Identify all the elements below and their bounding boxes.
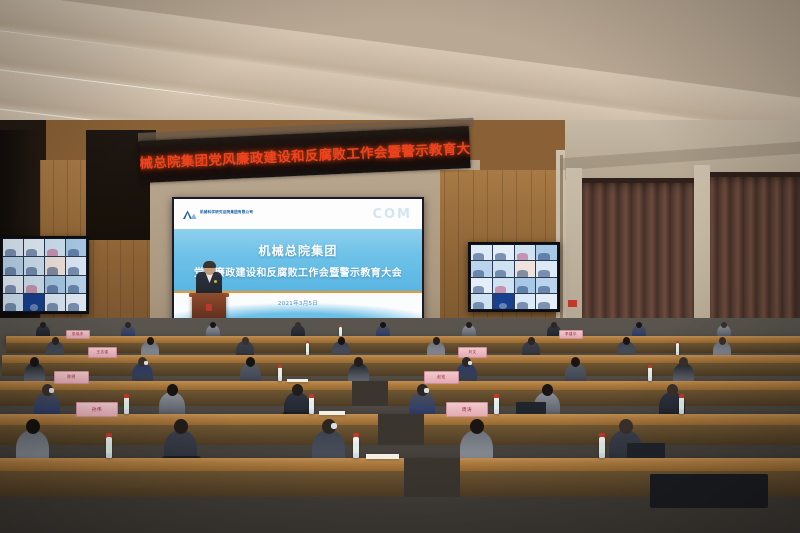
video-tile [515, 278, 536, 293]
video-tile [471, 278, 492, 293]
name-placard: 刘文 [458, 347, 487, 358]
attendee-head [147, 337, 154, 345]
video-wall-left [0, 236, 89, 314]
attendee-head [354, 357, 363, 367]
attendee-head [40, 322, 46, 328]
video-tile [3, 257, 23, 274]
bottle-label [599, 445, 605, 453]
attendee-head [338, 337, 345, 345]
attendee-head [292, 384, 303, 396]
bottle-label [353, 445, 359, 453]
video-tile [471, 245, 492, 260]
bottle-label [339, 330, 342, 333]
curtain-left [580, 178, 698, 333]
video-tile [536, 294, 557, 309]
bottle-label [278, 372, 282, 377]
video-tile [24, 276, 44, 293]
briefcase [650, 474, 768, 508]
bottle-label [648, 372, 652, 377]
video-wall-right [468, 242, 560, 312]
attendee-head [679, 357, 688, 367]
slide-watermark: COM [372, 207, 412, 222]
bottle-cap [309, 394, 314, 398]
attendee-head [30, 357, 39, 367]
video-tile [66, 294, 86, 311]
video-tile [66, 276, 86, 293]
attendee-head [52, 337, 59, 345]
face-mask [468, 361, 472, 365]
attendee-head [433, 337, 440, 345]
bottle-label [124, 403, 129, 409]
attendee [312, 430, 345, 460]
slide-title: 机械总院集团 [258, 242, 337, 259]
speaker-hair [203, 261, 216, 268]
video-tile [45, 257, 65, 274]
bottle-label [676, 348, 679, 352]
video-tile [45, 239, 65, 256]
slide-date: 2021年3月5日 [278, 299, 318, 307]
bottle-cap [599, 433, 605, 437]
attendee-head [167, 384, 178, 396]
name-placard: 赵宏 [424, 371, 459, 384]
conference-hall-photo: 机械总院集团党风廉政建设和反腐败工作会暨警示教育大会 机械科学研究总院集团有限公… [0, 0, 800, 533]
video-tile [493, 278, 514, 293]
video-tile [24, 257, 44, 274]
wall-seam [560, 155, 563, 345]
video-tile [3, 276, 23, 293]
video-tile-host [493, 294, 514, 309]
attendee-head [636, 322, 642, 328]
document-paper [287, 379, 308, 382]
bottle-cap [679, 394, 684, 398]
attendee-head [242, 337, 249, 345]
name-placard: 李建华 [559, 330, 583, 339]
video-tile [471, 294, 492, 309]
company-logo-icon [182, 209, 197, 220]
curtain-right [705, 172, 800, 342]
name-placard: 王志强 [88, 347, 117, 358]
document-paper [366, 454, 399, 459]
attendee-head [380, 322, 386, 328]
desk-front-panel [6, 343, 800, 353]
banner-text: 机械总院集团党风廉政建设和反腐败工作会暨警示教育大会 [139, 136, 471, 172]
video-tile [3, 294, 23, 311]
aisle-gap [352, 381, 388, 406]
video-tile [493, 245, 514, 260]
bottle-cap [339, 325, 342, 327]
attendee-head [210, 322, 216, 328]
video-tile [471, 261, 492, 276]
desk-surface [0, 381, 800, 390]
attendee-head [125, 322, 131, 328]
attendee-head [667, 384, 678, 396]
attendee-head [623, 337, 630, 345]
attendee-head [26, 419, 40, 434]
bottle-label [679, 403, 684, 409]
aisle-gap [378, 414, 424, 445]
desk-surface [6, 336, 800, 343]
attendee-head [528, 337, 535, 345]
video-tile [24, 239, 44, 256]
laptop [516, 402, 546, 414]
name-placard: 孙伟 [76, 402, 118, 417]
bottle-cap [353, 433, 359, 437]
bottle-cap [648, 365, 652, 368]
attendee-head [295, 322, 301, 328]
name-placard: 周涛 [446, 402, 488, 417]
video-tile [493, 261, 514, 276]
video-tile [515, 245, 536, 260]
speaker-badge [214, 280, 217, 283]
video-grid-right [471, 245, 557, 309]
bottle-cap [676, 341, 679, 343]
exit-sign [568, 300, 577, 307]
document-paper [319, 411, 345, 415]
video-tile [536, 261, 557, 276]
video-tile [536, 278, 557, 293]
face-mask [49, 388, 54, 393]
name-placard: 陈明 [54, 371, 89, 384]
attendee-head [542, 384, 553, 396]
name-placard: 张晓东 [66, 330, 90, 339]
bottle-cap [124, 394, 129, 398]
video-tile [66, 239, 86, 256]
video-tile [45, 294, 65, 311]
video-tile [45, 276, 65, 293]
attendee [460, 430, 493, 460]
bottle-label [106, 445, 112, 453]
face-mask [424, 388, 429, 393]
attendee-head [470, 419, 484, 434]
podium-emblem-icon [206, 304, 212, 311]
aisle-gap [404, 458, 460, 497]
bottle-label [306, 348, 309, 352]
attendee-head [619, 419, 633, 434]
desk-surface [0, 458, 800, 471]
video-grid-left [3, 239, 86, 311]
video-tile [515, 294, 536, 309]
bottle-label [494, 403, 499, 409]
company-logo-text: 机械科学研究总院集团有限公司 [200, 210, 253, 215]
bottle-label [309, 403, 314, 409]
slide-subtitle: 党风廉政建设和反腐败工作会暨警示教育大会 [194, 264, 402, 279]
video-tile [3, 239, 23, 256]
video-tile [536, 245, 557, 260]
laptop [627, 443, 665, 458]
attendee-head [466, 322, 472, 328]
bottle-cap [494, 394, 499, 398]
attendee-head [719, 337, 726, 345]
video-tile-host [24, 294, 44, 311]
face-mask [144, 361, 148, 365]
video-tile [515, 261, 536, 276]
attendee-head [246, 357, 255, 367]
attendee [16, 430, 49, 460]
attendee-head [571, 357, 580, 367]
bottle-cap [306, 341, 309, 343]
attendee-head [551, 322, 557, 328]
face-mask [331, 423, 337, 429]
attendee-head [721, 322, 727, 328]
video-tile [66, 257, 86, 274]
attendee-head [174, 419, 188, 434]
bottle-cap [278, 365, 282, 368]
bottle-cap [106, 433, 112, 437]
